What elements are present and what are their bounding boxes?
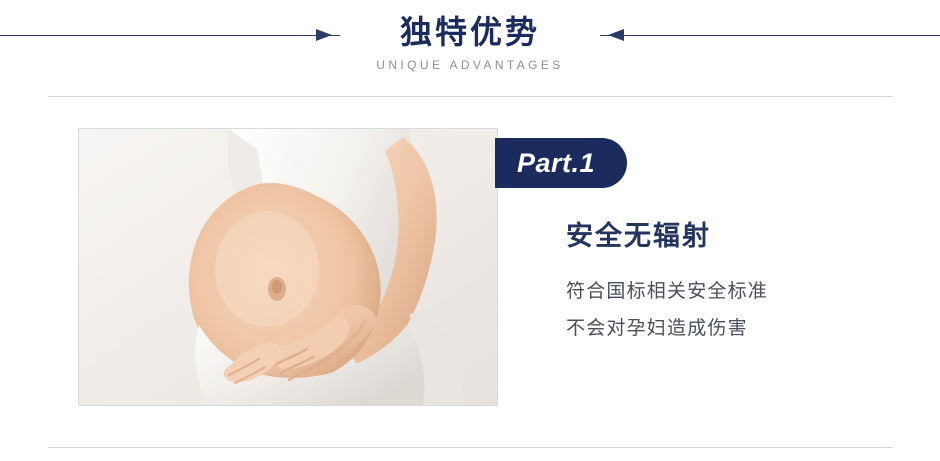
advantages-section: 独特优势 UNIQUE ADVANTAGES	[0, 0, 940, 461]
divider-top	[48, 96, 892, 97]
section-title-en: UNIQUE ADVANTAGES	[0, 57, 940, 73]
feature-subtitle-line1: 符合国标相关安全标准	[566, 278, 768, 306]
divider-bottom	[48, 447, 892, 448]
feature-subtitle-line2: 不会对孕妇造成伤害	[566, 315, 748, 343]
pregnant-woman-holding-belly-photo	[79, 129, 497, 405]
section-header: 独特优势 UNIQUE ADVANTAGES	[0, 0, 940, 96]
part-badge: Part.1	[495, 138, 627, 188]
feature-photo	[78, 128, 498, 406]
feature-headline: 安全无辐射	[566, 218, 711, 254]
section-title-cn: 独特优势	[0, 12, 940, 52]
